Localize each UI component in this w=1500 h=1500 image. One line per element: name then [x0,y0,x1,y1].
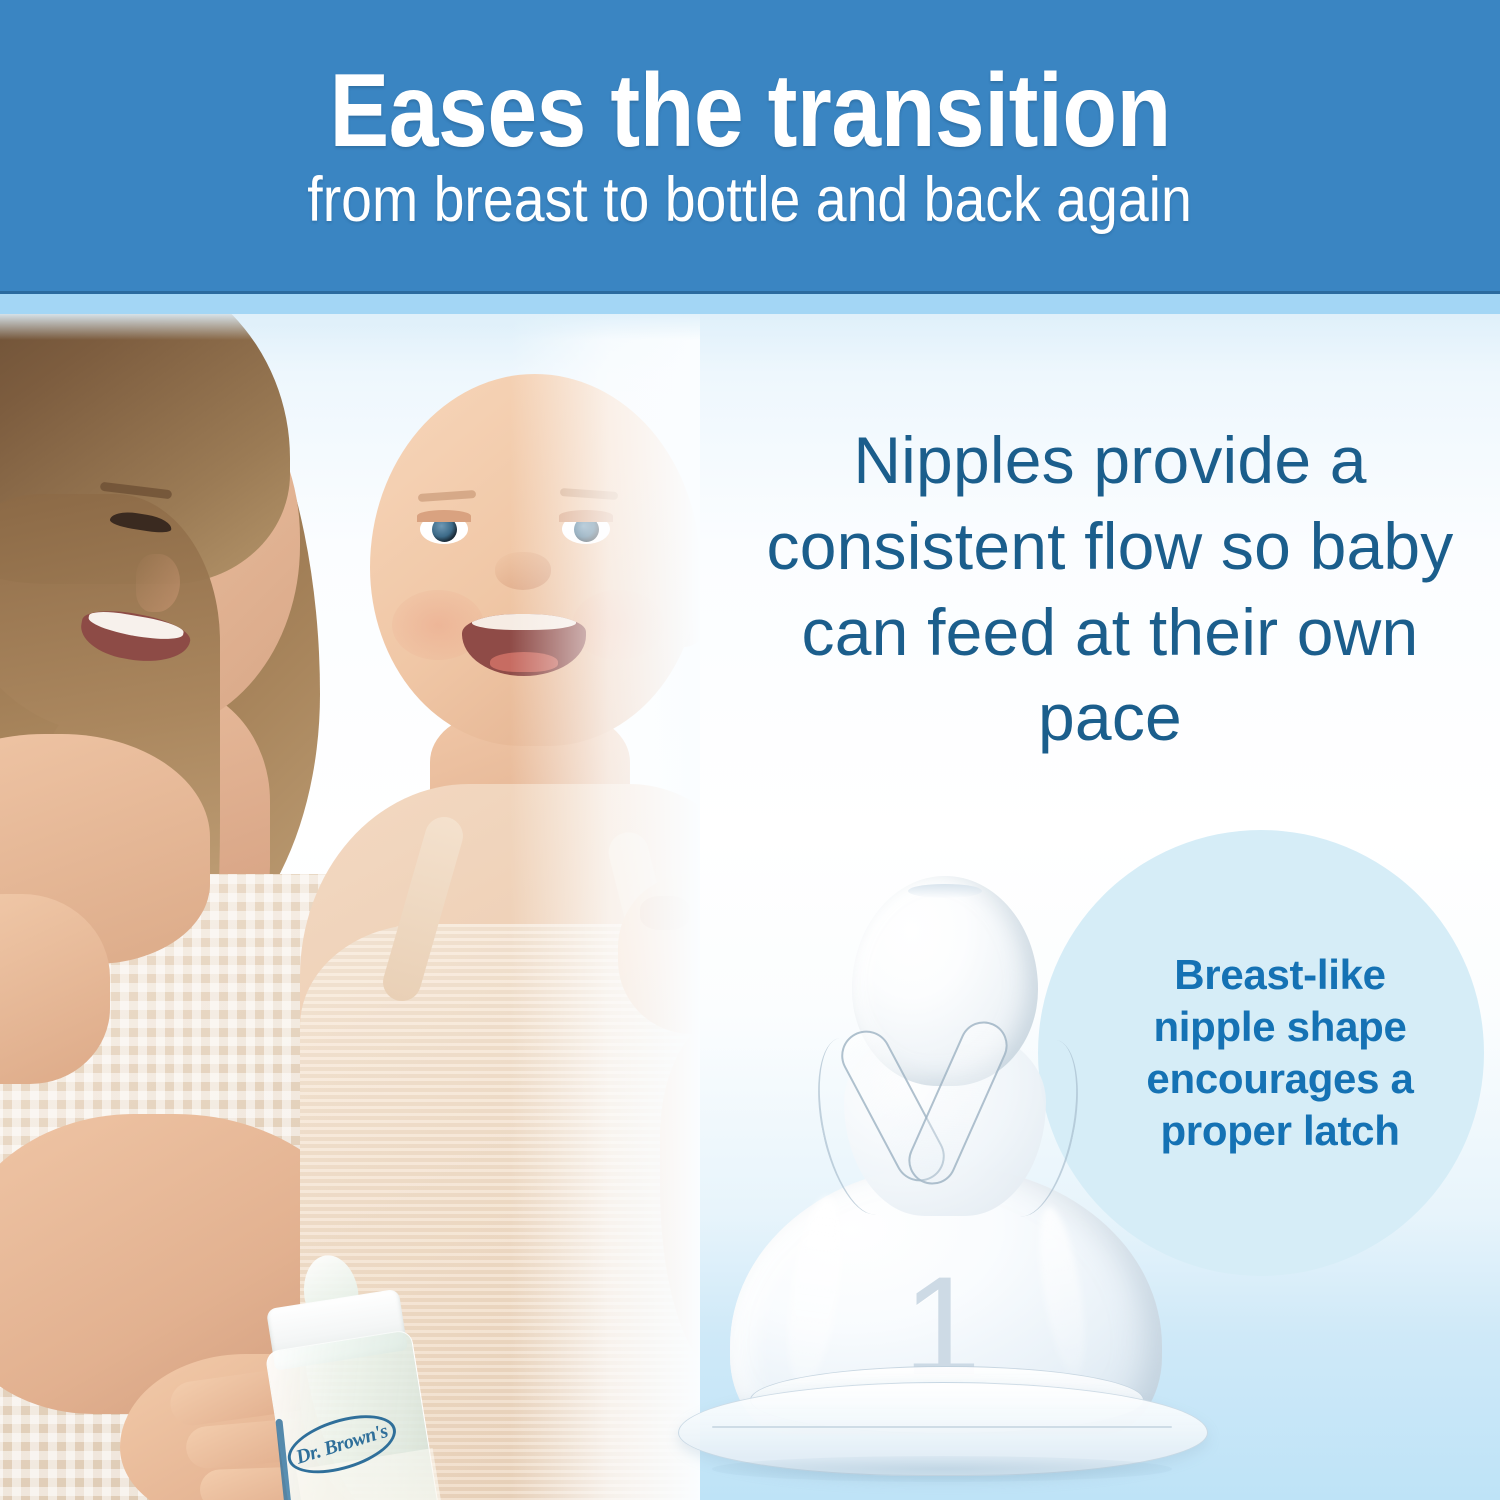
nipple-drop-shadow [712,1456,1172,1482]
feature-description: Nipples provide a consistent flow so bab… [760,418,1460,761]
baby-nose [495,552,551,590]
header-banner: Eases the transition from breast to bott… [0,0,1500,291]
baby-eyelid-right [559,510,613,522]
lifestyle-photo: Dr. Brown's [0,314,700,1500]
nipple-tip-vent [908,884,982,898]
baby-eyelid-left [417,510,471,522]
product-feature-image: Eases the transition from breast to bott… [0,0,1500,1500]
banner-title: Eases the transition [329,59,1170,163]
banner-accent-strip [0,294,1500,314]
product-nipple-image: 1 [672,866,1212,1466]
banner-subtitle: from breast to bottle and back again [308,169,1192,232]
baby-cheek-right [572,590,664,660]
nipple-base-seam [712,1426,1172,1428]
